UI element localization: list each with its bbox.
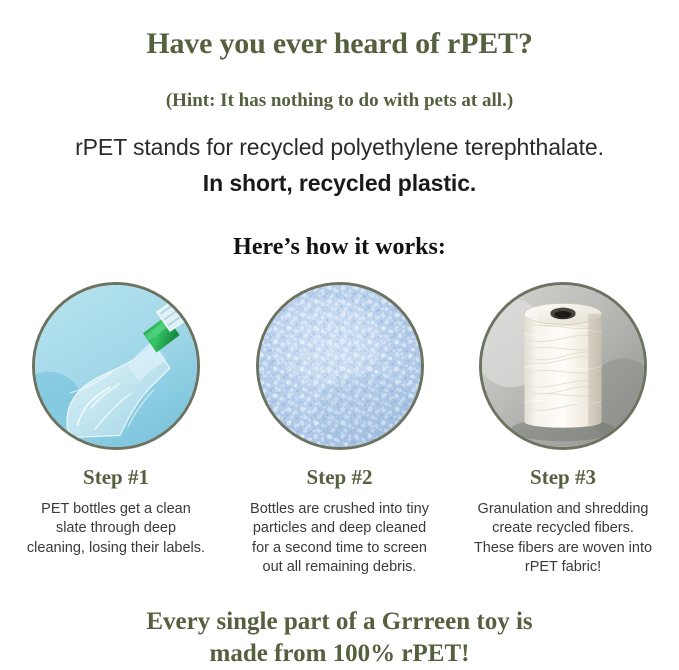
step-2: Step #2 Bottles are crushed into tiny pa… xyxy=(232,282,448,577)
recycled-fiber-spool-image xyxy=(482,285,644,447)
step-3: Step #3 Granulation and shredding create… xyxy=(455,282,671,577)
step-2-caption: Bottles are crushed into tiny particles … xyxy=(237,500,442,577)
page-subheadline: (Hint: It has nothing to do with pets at… xyxy=(0,79,679,110)
step-1-caption-line-2: slate through deep xyxy=(14,519,219,538)
step-1-image-circle xyxy=(32,282,200,450)
step-3-image-circle xyxy=(479,282,647,450)
step-3-caption: Granulation and shredding create recycle… xyxy=(461,500,666,577)
pet-flakes-image xyxy=(259,285,421,447)
step-3-title: Step #3 xyxy=(530,465,596,490)
step-2-title: Step #2 xyxy=(307,465,373,490)
step-2-image-circle xyxy=(256,282,424,450)
step-1-caption: PET bottles get a clean slate through de… xyxy=(14,500,219,558)
step-3-caption-line-1: Granulation and shredding xyxy=(461,500,666,519)
footer-tagline-line-1: Every single part of a Grrreen toy is xyxy=(0,606,679,638)
step-3-caption-line-2: create recycled fibers. xyxy=(461,519,666,538)
infographic-page: Have you ever heard of rPET? (Hint: It h… xyxy=(0,20,679,669)
step-1-caption-line-1: PET bottles get a clean xyxy=(14,500,219,519)
definition-line-1: rPET stands for recycled polyethylene te… xyxy=(0,110,679,161)
step-2-caption-line-3: for a second time to screen xyxy=(237,539,442,558)
footer-tagline: Every single part of a Grrreen toy is ma… xyxy=(0,606,679,670)
step-2-caption-line-2: particles and deep cleaned xyxy=(237,519,442,538)
step-2-caption-line-1: Bottles are crushed into tiny xyxy=(237,500,442,519)
step-2-caption-line-4: out all remaining debris. xyxy=(237,558,442,577)
section-title: Here’s how it works: xyxy=(0,197,679,261)
step-3-caption-line-3: These fibers are woven into xyxy=(461,539,666,558)
crushed-pet-bottle-image xyxy=(35,285,197,447)
footer-tagline-line-2: made from 100% rPET! xyxy=(0,638,679,670)
steps-row: Step #1 PET bottles get a clean slate th… xyxy=(0,261,679,577)
step-1-title: Step #1 xyxy=(83,465,149,490)
step-1-caption-line-3: cleaning, losing their labels. xyxy=(14,539,219,558)
definition-line-2: In short, recycled plastic. xyxy=(0,161,679,197)
step-1: Step #1 PET bottles get a clean slate th… xyxy=(8,282,224,577)
step-3-caption-line-4: rPET fabric! xyxy=(461,558,666,577)
page-headline: Have you ever heard of rPET? xyxy=(0,20,679,59)
